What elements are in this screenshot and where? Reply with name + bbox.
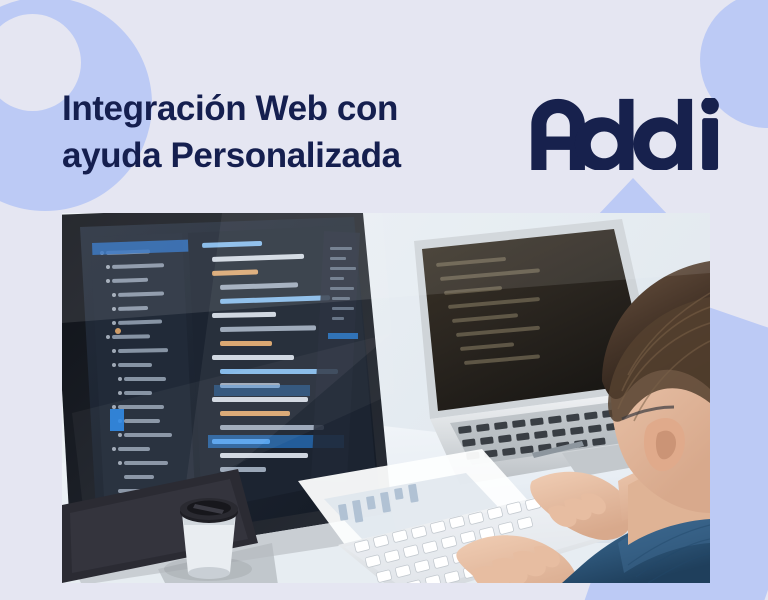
addi-logo bbox=[528, 98, 737, 170]
banner-header: Integración Web con ayuda Personalizada bbox=[0, 0, 768, 210]
promo-banner: Integración Web con ayuda Personalizada bbox=[0, 0, 768, 600]
hero-photo bbox=[62, 213, 710, 583]
page-title: Integración Web con ayuda Personalizada bbox=[62, 86, 492, 179]
